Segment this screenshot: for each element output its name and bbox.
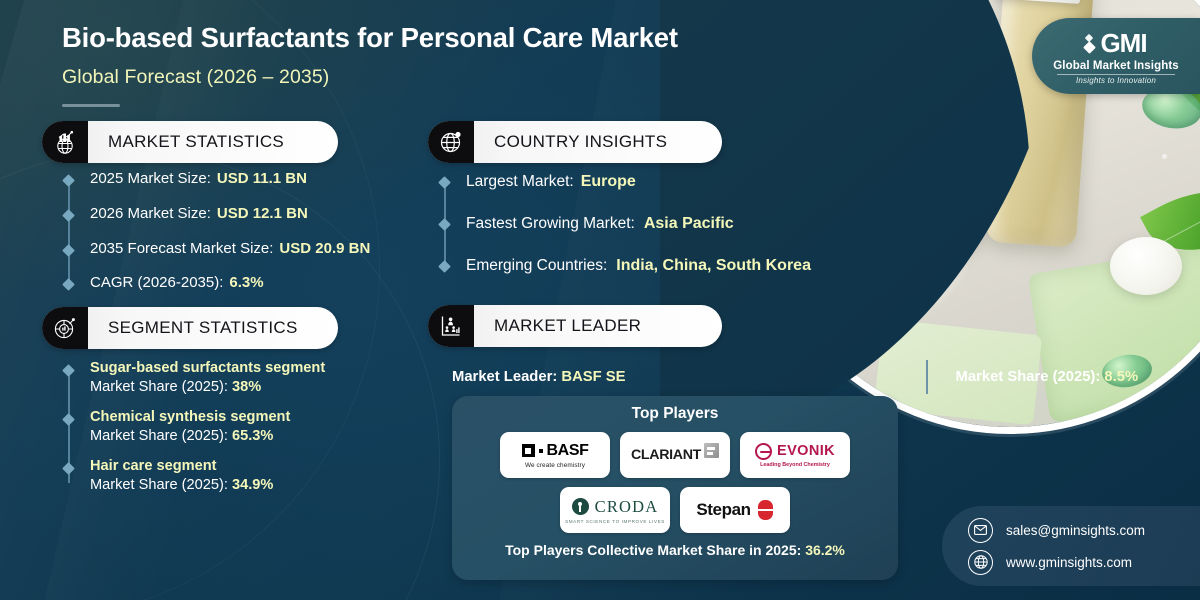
list-item: Hair care segment Market Share (2025): 3…	[68, 458, 438, 493]
basf-dot-icon	[539, 449, 543, 453]
pill-label: MARKET LEADER	[474, 316, 641, 336]
gmi-wordmark: GMI	[1085, 28, 1146, 59]
item-value: USD 11.1 BN	[217, 170, 307, 189]
title-rule	[62, 104, 120, 107]
divider	[926, 360, 928, 394]
leaf-icon	[780, 47, 893, 139]
envelope-icon	[968, 518, 993, 543]
logo-basf[interactable]: BASF We create chemistry	[500, 432, 610, 478]
item-label: 2026 Market Size:	[90, 205, 211, 224]
logo-name: EVONIK	[777, 443, 835, 459]
item-label: 2025 Market Size:	[90, 170, 211, 189]
pill-label: SEGMENT STATISTICS	[88, 318, 298, 338]
logo-tagline: Leading Beyond Chemistry	[760, 462, 830, 468]
contact-email-row[interactable]: sales@gminsights.com	[968, 518, 1200, 543]
diamond-bullet-icon	[438, 218, 451, 231]
logo-row-1: BASF We create chemistry CLARIANT EVONIK	[500, 432, 850, 478]
leader-value: BASF SE	[561, 369, 625, 385]
list-rail	[68, 180, 70, 283]
item-label: 2035 Forecast Market Size:	[90, 240, 273, 259]
item-label: Emerging Countries:	[466, 256, 607, 275]
segment-name: Hair care segment	[90, 458, 217, 474]
diamond-bullet-icon	[438, 176, 451, 189]
list-item: Emerging Countries: India, China, South …	[444, 256, 874, 276]
list-item: CAGR (2026-2035): 6.3%	[68, 274, 428, 293]
market-share-text: Market Share (2025): 8.5%	[956, 369, 1139, 385]
list-item: 2025 Market Size: USD 11.1 BN	[68, 170, 428, 189]
divider	[1057, 74, 1175, 75]
header: Bio-based Surfactants for Personal Care …	[62, 22, 722, 107]
gmi-logo: GMI Global Market Insights Insights to I…	[1032, 18, 1200, 94]
segment-share: Market Share (2025): 38%	[90, 379, 261, 395]
market-statistics-list: 2025 Market Size: USD 11.1 BN 2026 Marke…	[68, 170, 428, 293]
basf-square-icon	[522, 444, 535, 457]
list-item: Largest Market: Europe	[444, 172, 874, 192]
logo-tagline: We create chemistry	[525, 462, 585, 469]
evonik-mark-icon	[755, 443, 772, 460]
share-label: Market Share (2025):	[956, 369, 1101, 385]
share-label: Market Share (2025):	[90, 477, 228, 493]
croda-mark-icon	[572, 498, 589, 515]
share-value: 8.5%	[1104, 369, 1138, 385]
segment-name: Chemical synthesis segment	[90, 409, 290, 425]
page-subtitle: Global Forecast (2026 – 2035)	[62, 66, 722, 89]
item-value: India, China, South Korea	[616, 256, 811, 276]
item-value: Asia Pacific	[644, 214, 734, 234]
share-value: 38%	[232, 379, 261, 395]
segment-share: Market Share (2025): 34.9%	[90, 477, 273, 493]
logo-stepan[interactable]: Stepan	[680, 487, 790, 533]
logo-row-2: CRODA SMART SCIENCE TO IMPROVE LIVES Ste…	[560, 487, 790, 533]
gmi-full-name: Global Market Insights	[1053, 60, 1179, 72]
pill-segment-statistics: SEGMENT STATISTICS	[42, 307, 338, 349]
list-item: 2026 Market Size: USD 12.1 BN	[68, 205, 428, 224]
stepan-mark-icon	[758, 500, 774, 520]
top-players-footer: Top Players Collective Market Share in 2…	[505, 542, 845, 558]
chart-globe-icon	[42, 121, 88, 163]
infographic-canvas: GMI Global Market Insights Insights to I…	[0, 0, 1200, 600]
diamond-bullet-icon	[438, 260, 451, 273]
pill-market-leader: MARKET LEADER	[428, 305, 722, 347]
list-item: Fastest Growing Market: Asia Pacific	[444, 214, 874, 234]
logo-croda[interactable]: CRODA SMART SCIENCE TO IMPROVE LIVES	[560, 487, 670, 533]
country-insights-list: Largest Market: Europe Fastest Growing M…	[444, 172, 874, 276]
share-label: Market Share (2025):	[90, 428, 228, 444]
market-leader-row: Market Leader: BASF SE Market Share (202…	[452, 360, 1138, 394]
logo-name: Stepan	[696, 500, 750, 520]
diamond-icon	[1085, 35, 1094, 52]
logo-name: CLARIANT	[631, 447, 701, 463]
clariant-mark-icon	[704, 443, 719, 458]
item-value: 6.3%	[229, 274, 263, 293]
logo-tagline: SMART SCIENCE TO IMPROVE LIVES	[565, 519, 665, 524]
gmi-tagline: Insights to Innovation	[1076, 76, 1156, 85]
item-value: USD 20.9 BN	[279, 240, 370, 259]
pie-chart-icon	[42, 307, 88, 349]
top-players-title: Top Players	[632, 405, 719, 423]
top-players-panel: Top Players BASF We create chemistry CLA…	[452, 396, 898, 580]
gmi-brand-name: GMI	[1100, 28, 1146, 59]
list-item: Chemical synthesis segment Market Share …	[68, 409, 438, 444]
segment-name: Sugar-based surfactants segment	[90, 360, 325, 376]
logo-clariant[interactable]: CLARIANT	[620, 432, 730, 478]
item-value: Europe	[581, 172, 636, 192]
logo-name: BASF	[547, 442, 589, 460]
globe-pin-icon	[428, 121, 474, 163]
item-label: Fastest Growing Market:	[466, 214, 635, 233]
item-label: CAGR (2026-2035):	[90, 274, 223, 293]
contact-panel: sales@gminsights.com www.gminsights.com	[942, 506, 1200, 586]
market-leader-text: Market Leader: BASF SE	[452, 369, 626, 385]
footer-label: Top Players Collective Market Share in 2…	[505, 542, 801, 558]
globe-icon	[968, 550, 993, 575]
item-value: USD 12.1 BN	[217, 205, 308, 224]
contact-website-row[interactable]: www.gminsights.com	[968, 550, 1200, 575]
pill-market-statistics: MARKET STATISTICS	[42, 121, 338, 163]
contact-email: sales@gminsights.com	[1006, 523, 1145, 538]
pill-label: COUNTRY INSIGHTS	[474, 132, 667, 152]
share-label: Market Share (2025):	[90, 379, 228, 395]
leader-label: Market Leader:	[452, 369, 557, 385]
share-value: 65.3%	[232, 428, 273, 444]
sponge-disc	[858, 149, 990, 264]
contact-website: www.gminsights.com	[1006, 555, 1132, 570]
footer-value: 36.2%	[805, 542, 845, 558]
logo-evonik[interactable]: EVONIK Leading Beyond Chemistry	[740, 432, 850, 478]
logo-name: CRODA	[595, 497, 659, 517]
podium-icon	[428, 305, 474, 347]
share-value: 34.9%	[232, 477, 273, 493]
segment-statistics-list: Sugar-based surfactants segment Market S…	[68, 360, 438, 493]
page-title: Bio-based Surfactants for Personal Care …	[62, 22, 722, 54]
segment-share: Market Share (2025): 65.3%	[90, 428, 273, 444]
pill-country-insights: COUNTRY INSIGHTS	[428, 121, 722, 163]
list-item: Sugar-based surfactants segment Market S…	[68, 360, 438, 395]
list-item: 2035 Forecast Market Size: USD 20.9 BN	[68, 240, 428, 259]
item-label: Largest Market:	[466, 172, 574, 191]
pill-label: MARKET STATISTICS	[88, 132, 284, 152]
